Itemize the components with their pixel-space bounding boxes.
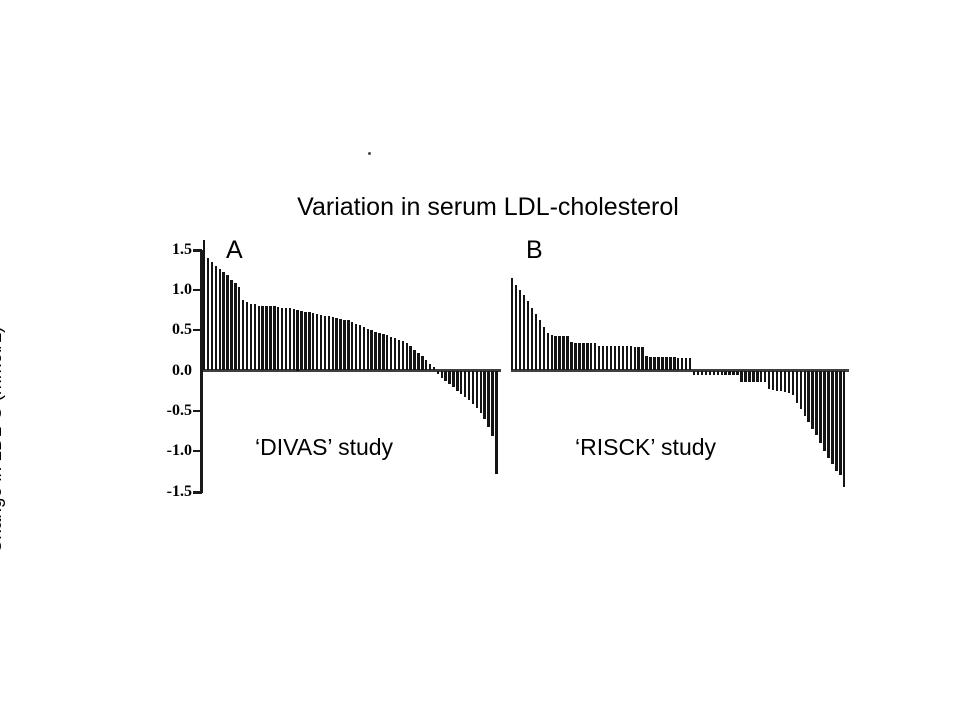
- bar: [831, 371, 833, 465]
- bar: [308, 312, 310, 370]
- axis-tick-mark: [193, 289, 201, 291]
- bar: [433, 367, 435, 370]
- bar: [363, 327, 365, 371]
- bar: [606, 346, 608, 370]
- bar: [665, 357, 667, 371]
- bar: [574, 343, 576, 370]
- bar: [456, 371, 458, 391]
- bar: [394, 338, 396, 370]
- bar: [250, 304, 252, 371]
- bar: [409, 346, 411, 370]
- bar: [203, 240, 205, 371]
- bar: [390, 337, 392, 371]
- bar: [815, 371, 817, 436]
- bar: [598, 346, 600, 370]
- bar: [296, 310, 298, 371]
- bar: [796, 371, 798, 403]
- bar: [807, 371, 809, 423]
- bar: [464, 371, 466, 398]
- bar: [300, 311, 302, 371]
- bar: [351, 322, 353, 370]
- y-tick-0p5: 0.5: [146, 322, 192, 338]
- bar: [657, 357, 659, 371]
- bar: [622, 346, 624, 370]
- bar: [265, 306, 267, 371]
- bar: [234, 283, 236, 370]
- bar: [211, 262, 213, 371]
- y-tick-0p0: 0.0: [146, 363, 192, 379]
- bar: [316, 314, 318, 370]
- bar: [570, 342, 572, 370]
- bar: [207, 258, 209, 371]
- bar: [800, 371, 802, 410]
- bar: [444, 371, 446, 381]
- axis-tick-mark: [193, 249, 202, 252]
- bar: [543, 327, 545, 371]
- y-tick-neg0p5: -0.5: [146, 403, 192, 419]
- bar: [487, 371, 489, 427]
- bar: [324, 316, 326, 371]
- bar: [359, 325, 361, 370]
- waterfall-figure: Variation in serum LDL-cholesterol Chang…: [0, 0, 960, 720]
- bar: [626, 346, 628, 370]
- bar: [784, 371, 786, 393]
- bar: [566, 336, 568, 371]
- bar: [269, 306, 271, 371]
- bar: [760, 371, 762, 382]
- bar: [681, 358, 683, 371]
- bar: [515, 285, 517, 371]
- bar: [653, 357, 655, 371]
- bar: [705, 371, 707, 375]
- y-axis-tick-labels: 1.51.00.50.0-0.5-1.0-1.5: [146, 0, 192, 720]
- bar: [230, 280, 232, 370]
- bar: [339, 319, 341, 371]
- bar: [460, 371, 462, 394]
- bar: [764, 371, 766, 382]
- bar: [483, 371, 485, 419]
- bar: [254, 304, 256, 370]
- y-axis-label: Change in LDL-C (mmol/L): [0, 290, 7, 590]
- bar: [285, 308, 287, 371]
- bar: [452, 371, 454, 388]
- bar: [519, 290, 521, 371]
- bar: [618, 346, 620, 370]
- y-tick-1p5: 1.5: [146, 242, 192, 258]
- bar: [402, 341, 404, 370]
- bar: [378, 333, 380, 370]
- bar: [406, 343, 408, 370]
- bar: [222, 272, 224, 370]
- bar: [582, 343, 584, 370]
- bar: [748, 371, 750, 382]
- bar: [289, 308, 291, 370]
- bar: [429, 364, 431, 370]
- bar: [367, 329, 369, 371]
- bar: [792, 371, 794, 395]
- bar: [776, 371, 778, 391]
- bar: [768, 371, 770, 390]
- bar: [709, 371, 711, 375]
- bar: [370, 330, 372, 370]
- bar: [614, 346, 616, 370]
- bar: [756, 371, 758, 382]
- bar: [740, 371, 742, 382]
- bar: [752, 371, 754, 382]
- study-label-risck: ‘RISCK’ study: [575, 434, 716, 461]
- bar: [819, 371, 821, 444]
- bar: [495, 371, 497, 474]
- bar: [689, 358, 691, 371]
- bar: [602, 346, 604, 370]
- bar: [578, 343, 580, 370]
- bar: [535, 314, 537, 370]
- bar: [558, 336, 560, 371]
- bar: [219, 269, 221, 371]
- bar: [472, 371, 474, 405]
- bar: [721, 371, 723, 375]
- bar: [551, 335, 553, 370]
- axis-tick-mark: [193, 491, 202, 494]
- bar: [843, 371, 845, 488]
- bar: [320, 315, 322, 371]
- bar: [713, 371, 715, 375]
- bar: [839, 371, 841, 476]
- bar: [491, 371, 493, 436]
- axis-tick-mark: [193, 329, 201, 331]
- bar: [788, 371, 790, 394]
- bar: [527, 301, 529, 370]
- bar: [242, 300, 244, 371]
- bar: [277, 307, 279, 371]
- bar: [554, 336, 556, 371]
- bar: [827, 371, 829, 458]
- bar: [645, 356, 647, 371]
- axis-tick-mark: [193, 450, 201, 452]
- bar: [258, 306, 260, 371]
- bar: [732, 371, 734, 375]
- bar: [226, 275, 228, 370]
- bar: [590, 343, 592, 370]
- bar: [697, 371, 699, 375]
- bar: [468, 371, 470, 401]
- bar: [476, 371, 478, 409]
- bar: [215, 266, 217, 371]
- bar: [382, 334, 384, 370]
- bar: [701, 371, 703, 375]
- bar: [823, 371, 825, 452]
- bar: [347, 320, 349, 370]
- bar: [772, 371, 774, 390]
- bar: [355, 324, 357, 371]
- axis-tick-mark: [193, 410, 201, 412]
- bar: [724, 371, 726, 375]
- bar: [637, 347, 639, 370]
- bar: [386, 335, 388, 370]
- bar: [835, 371, 837, 471]
- bar: [744, 371, 746, 382]
- bar: [649, 357, 651, 371]
- bar: [780, 371, 782, 392]
- y-tick-1p0: 1.0: [146, 282, 192, 298]
- bar: [693, 371, 695, 375]
- bar: [641, 347, 643, 370]
- bar: [562, 336, 564, 371]
- bar: [398, 340, 400, 371]
- bar: [586, 343, 588, 370]
- panel-letter-b: B: [526, 236, 543, 265]
- bar: [677, 358, 679, 371]
- bar: [547, 333, 549, 371]
- bar: [448, 371, 450, 385]
- bar: [594, 343, 596, 370]
- bar: [531, 308, 533, 371]
- bar: [669, 357, 671, 371]
- bar: [523, 295, 525, 371]
- bar: [539, 320, 541, 370]
- bar: [374, 332, 376, 371]
- bar: [480, 371, 482, 414]
- bar: [634, 347, 636, 370]
- bar: [736, 371, 738, 375]
- bar: [717, 371, 719, 375]
- bar: [328, 316, 330, 370]
- bar: [413, 350, 415, 371]
- bar: [293, 309, 295, 370]
- y-tick-neg1p0: -1.0: [146, 443, 192, 459]
- bar: [273, 306, 275, 371]
- stray-dot-artifact: [368, 152, 371, 155]
- bar: [511, 278, 513, 371]
- bar: [335, 318, 337, 370]
- bar: [312, 313, 314, 370]
- chart-title: Variation in serum LDL-cholesterol: [0, 193, 960, 222]
- bar: [630, 346, 632, 370]
- bar: [281, 308, 283, 371]
- bar: [246, 302, 248, 371]
- bar: [238, 287, 240, 371]
- y-tick-neg1p5: -1.5: [146, 484, 192, 500]
- bar: [661, 357, 663, 371]
- study-label-divas: ‘DIVAS’ study: [255, 434, 393, 461]
- bar: [304, 312, 306, 371]
- bar: [804, 371, 806, 416]
- bar: [437, 371, 439, 374]
- bar: [673, 357, 675, 371]
- bar: [728, 371, 730, 375]
- bar: [343, 320, 345, 371]
- bar: [441, 371, 443, 378]
- bar: [261, 306, 263, 371]
- bar: [332, 317, 334, 370]
- bar: [610, 346, 612, 370]
- bar: [425, 360, 427, 370]
- bar: [421, 356, 423, 371]
- bar: [685, 358, 687, 371]
- panel-letter-a: A: [226, 236, 243, 265]
- bar: [417, 353, 419, 371]
- bar: [811, 371, 813, 429]
